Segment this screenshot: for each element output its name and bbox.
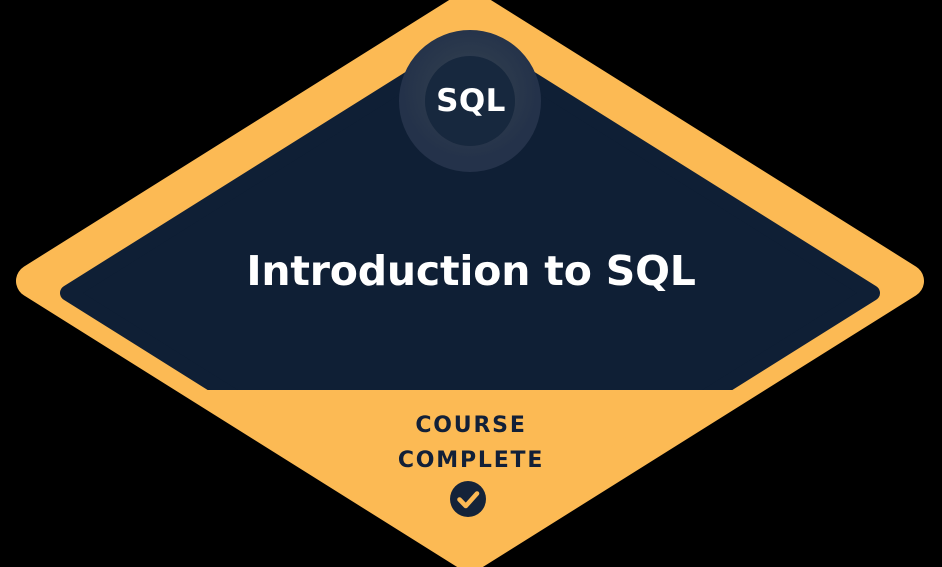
sql-ring-badge [408,39,532,163]
sql-ring-inner [425,56,515,146]
badge-artwork [0,0,942,567]
check-circle-bg [450,481,486,517]
check-circle-icon [450,481,486,517]
course-completion-badge: SQL Introduction to SQL COURSE COMPLETE [0,0,942,567]
